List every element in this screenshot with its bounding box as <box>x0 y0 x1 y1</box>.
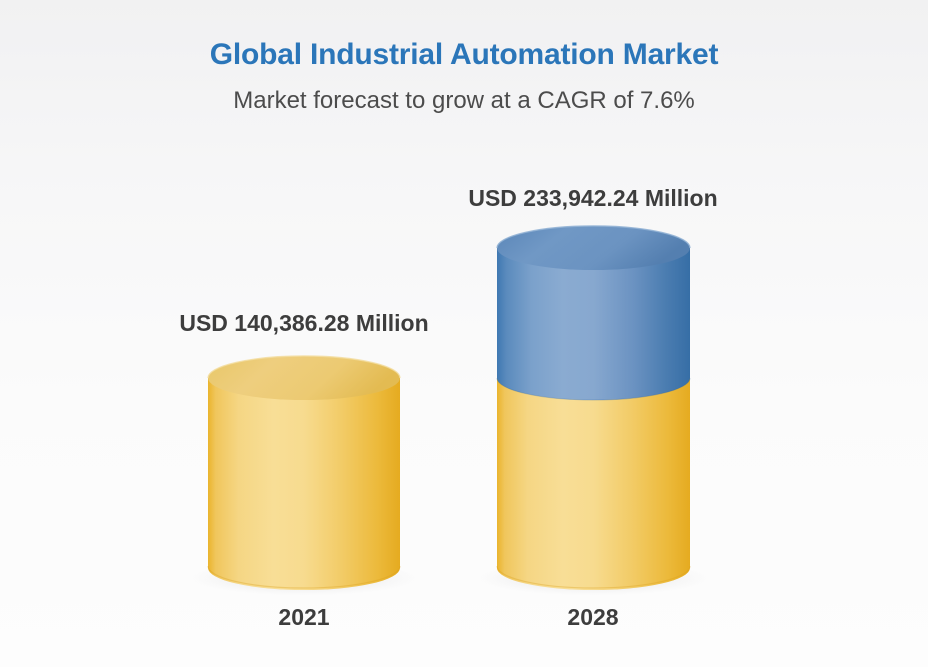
value-label-2021: USD 140,386.28 Million <box>104 310 504 337</box>
value-label-2028: USD 233,942.24 Million <box>393 185 793 212</box>
category-label-2021: 2021 <box>204 604 404 631</box>
bar-2028-base-body <box>497 378 690 590</box>
bar-2021 <box>208 356 400 590</box>
bar-2021-body <box>208 378 400 590</box>
bar-2028 <box>497 226 690 590</box>
plot-area: USD 140,386.28 Million USD 233,942.24 Mi… <box>0 0 928 667</box>
chart-container: Global Industrial Automation Market Mark… <box>0 0 928 667</box>
category-label-2028: 2028 <box>493 604 693 631</box>
bar-2028-growth-body <box>497 248 690 400</box>
